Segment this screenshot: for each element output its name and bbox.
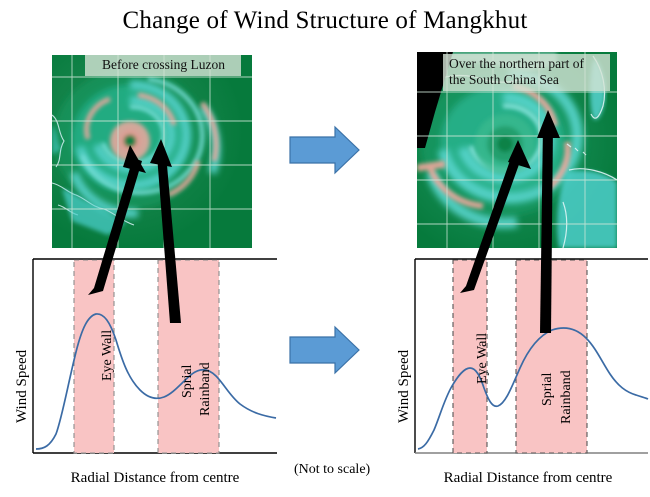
band-label-spiral-left-line2: Rainband: [198, 362, 214, 416]
wind-profile-chart-right: Eye Wall Sprial Rainband: [412, 256, 650, 456]
slide-root: Change of Wind Structure of Mangkhut: [0, 0, 650, 497]
not-to-scale-note: (Not to scale): [294, 462, 370, 478]
wind-speed-curve: [36, 314, 276, 449]
band-label-spiral-right-line1: Sprial: [540, 373, 556, 406]
band-label-spiral-left-line1: Sprial: [180, 365, 196, 398]
page-title: Change of Wind Structure of Mangkhut: [0, 7, 650, 35]
satellite-left-caption: Before crossing Luzon: [85, 55, 241, 76]
wind-profile-chart-left: Eye Wall Sprial Rainband: [30, 256, 280, 456]
band-label-eye-wall-right: Eye Wall: [475, 333, 491, 384]
x-axis-label-right: Radial Distance from centre: [408, 470, 648, 487]
y-axis-label-right: Wind Speed: [396, 350, 413, 423]
satellite-image-right: Over the northern part of the South Chin…: [417, 52, 617, 248]
band-label-eye-wall-left: Eye Wall: [100, 330, 116, 381]
x-axis-label-left: Radial Distance from centre: [30, 470, 280, 487]
right-arrow-icon-bottom: [290, 327, 359, 373]
satellite-right-caption: Over the northern part of the South Chin…: [443, 54, 610, 91]
satellite-image-left: Before crossing Luzon: [52, 55, 252, 248]
satellite-left-graphic: [52, 55, 252, 248]
y-axis-label-left: Wind Speed: [14, 350, 31, 423]
spiral-rainband-band: [158, 260, 219, 453]
band-label-spiral-right-line2: Rainband: [559, 370, 575, 424]
right-arrow-icon-top: [290, 127, 359, 173]
